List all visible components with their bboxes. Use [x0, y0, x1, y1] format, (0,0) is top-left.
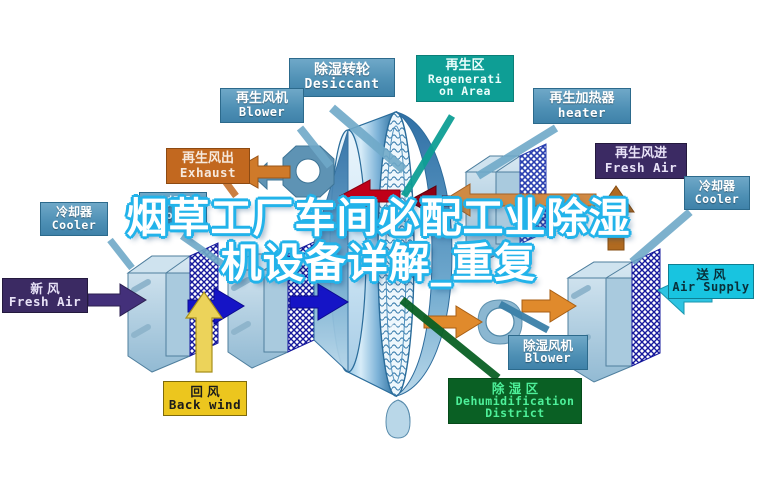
condensate-drain: [386, 400, 410, 438]
label-heater-en: heater: [538, 106, 626, 119]
watermark-text: xn: [388, 318, 402, 333]
label-regeneration-heater[interactable]: 再生加热器 heater: [533, 88, 631, 124]
label-regeneration-blower[interactable]: 再生风机 Blower: [220, 88, 304, 123]
label-cooler-l1-cn: 冷却器: [44, 206, 104, 219]
label-desiccant-en: Desiccant: [294, 78, 390, 92]
label-dehumidification-blower[interactable]: 除湿风机 Blower: [508, 335, 588, 370]
label-regen-area-cn: 再生区: [420, 59, 510, 73]
label-exhaust-cn: 再生风出: [171, 152, 245, 166]
label-air-supply[interactable]: 送 风 Air Supply: [668, 264, 754, 299]
label-regen-area-en2: on Area: [420, 85, 510, 97]
label-heater-cn: 再生加热器: [538, 92, 626, 106]
label-desiccant-wheel[interactable]: 除湿转轮 Desiccant: [289, 58, 395, 97]
label-regen-fresh-cn: 再生风进: [600, 147, 682, 161]
label-cooler-l2-en: Cooler: [143, 209, 203, 221]
label-regeneration-area[interactable]: 再生区 Regenerati on Area: [416, 55, 514, 102]
label-dehum-dist-en2: District: [452, 407, 578, 419]
label-air-supply-en: Air Supply: [672, 281, 750, 294]
label-regeneration-exhaust[interactable]: 再生风出 Exhaust: [166, 148, 250, 184]
label-cooler-l1-en: Cooler: [44, 219, 104, 231]
label-fresh-air-intake[interactable]: 新 风 Fresh Air: [2, 278, 88, 313]
label-desiccant-cn: 除湿转轮: [294, 63, 390, 78]
label-regen-fresh-en: Fresh Air: [600, 161, 682, 174]
label-regeneration-fresh-air[interactable]: 再生风进 Fresh Air: [595, 143, 687, 179]
label-dehumidification-district[interactable]: 除 湿 区 Dehumidification District: [448, 378, 582, 424]
label-cooler-r-cn: 冷却器: [688, 180, 746, 193]
label-regen-area-en1: Regenerati: [420, 73, 510, 85]
arrow-regen-fresh-v: [598, 186, 634, 250]
label-cooler-right[interactable]: 冷却器 Cooler: [684, 176, 750, 210]
label-cooler-left-1[interactable]: 冷却器 Cooler: [40, 202, 108, 236]
label-back-wind-en: Back wind: [167, 398, 243, 411]
label-dehum-blower-en: Blower: [513, 352, 583, 365]
label-cooler-l2-cn: 冷却器: [143, 196, 203, 209]
label-back-wind[interactable]: 回 风 Back wind: [163, 381, 247, 416]
label-fresh-air-en: Fresh Air: [6, 295, 84, 308]
label-regen-blower-cn: 再生风机: [225, 92, 299, 106]
label-cooler-left-2[interactable]: 冷却器 Cooler: [139, 192, 207, 226]
label-regen-blower-en: Blower: [225, 106, 299, 119]
label-cooler-r-en: Cooler: [688, 193, 746, 205]
dehumidifier-diagram: xn 除湿转轮 Desiccant 再生风机 Blower 再生区 Regene…: [0, 0, 757, 488]
label-exhaust-en: Exhaust: [171, 166, 245, 179]
